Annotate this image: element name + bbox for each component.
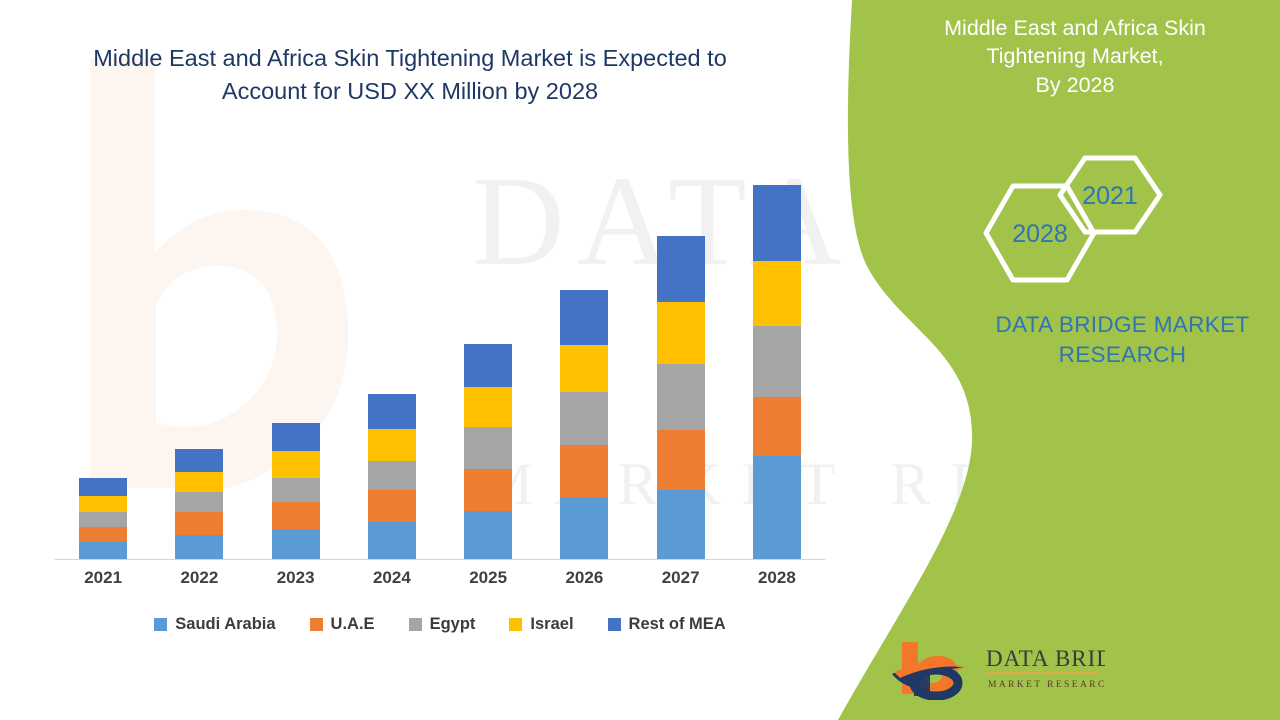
bar-2022 — [175, 449, 223, 559]
bar-segment-2022-israel — [175, 472, 223, 492]
legend-swatch-icon — [608, 618, 621, 631]
bar-2021 — [79, 478, 127, 559]
bar-segment-2021-israel — [79, 496, 127, 512]
bar-2027 — [657, 236, 705, 559]
infographic-canvas: DATA BRIDGE MARKET RESEARCH Middle East … — [0, 0, 1280, 720]
panel-heading-line-1: Middle East and Africa Skin — [905, 14, 1245, 42]
year-hexagon-group: 2021 2028 — [975, 148, 1175, 283]
bar-segment-2026-saudi-arabia — [560, 497, 608, 559]
x-axis-label-2022: 2022 — [164, 568, 234, 588]
panel-brand-line-2: RESEARCH — [960, 340, 1280, 370]
panel-brand-line-1: DATA BRIDGE MARKET — [960, 310, 1280, 340]
bar-segment-2026-israel — [560, 345, 608, 392]
bar-segment-2025-rest-of-mea — [464, 344, 512, 387]
bar-segment-2022-egypt — [175, 492, 223, 512]
bar-segment-2028-rest-of-mea — [753, 185, 801, 261]
x-axis-line — [55, 559, 825, 560]
legend-item-egypt[interactable]: Egypt — [409, 615, 476, 634]
bar-segment-2021-rest-of-mea — [79, 478, 127, 496]
bar-segment-2025-israel — [464, 387, 512, 427]
legend-swatch-icon — [154, 618, 167, 631]
panel-heading: Middle East and Africa Skin Tightening M… — [905, 14, 1245, 99]
hexagon-2021-label: 2021 — [1082, 182, 1138, 210]
bar-segment-2028-saudi-arabia — [753, 456, 801, 559]
bar-segment-2021-u-a-e — [79, 527, 127, 542]
bar-segment-2024-rest-of-mea — [368, 394, 416, 429]
x-axis-label-2027: 2027 — [646, 568, 716, 588]
bar-segment-2021-saudi-arabia — [79, 542, 127, 559]
bar-segment-2027-saudi-arabia — [657, 490, 705, 559]
bar-2025 — [464, 344, 512, 559]
stacked-bar-chart — [55, 160, 825, 560]
bar-segment-2027-israel — [657, 302, 705, 364]
x-axis-labels: 20212022202320242025202620272028 — [55, 568, 825, 596]
x-axis-label-2025: 2025 — [453, 568, 523, 588]
bar-segment-2025-saudi-arabia — [464, 511, 512, 559]
logo-wordmark-bottom: MARKET RESEARCH — [988, 680, 1105, 690]
bar-segment-2021-egypt — [79, 512, 127, 527]
bar-segment-2028-egypt — [753, 326, 801, 397]
bar-segment-2027-rest-of-mea — [657, 236, 705, 302]
bar-segment-2028-israel — [753, 261, 801, 326]
bar-segment-2023-u-a-e — [272, 502, 320, 529]
panel-heading-line-3: By 2028 — [905, 71, 1245, 99]
bar-2024 — [368, 394, 416, 559]
hexagon-2028-label: 2028 — [1012, 220, 1068, 248]
chart-legend: Saudi ArabiaU.A.EEgyptIsraelRest of MEA — [55, 615, 825, 634]
bar-segment-2025-u-a-e — [464, 469, 512, 511]
x-axis-label-2026: 2026 — [549, 568, 619, 588]
bar-segment-2024-israel — [368, 429, 416, 461]
x-axis-label-2023: 2023 — [261, 568, 331, 588]
bar-segment-2024-saudi-arabia — [368, 522, 416, 559]
legend-swatch-icon — [509, 618, 522, 631]
bar-2026 — [560, 290, 608, 559]
bar-segment-2022-saudi-arabia — [175, 535, 223, 559]
logo-wordmark-top: DATA BRIDGE — [986, 646, 1105, 671]
legend-item-rest-of-mea[interactable]: Rest of MEA — [608, 615, 726, 634]
bar-segment-2026-egypt — [560, 392, 608, 445]
bar-segment-2023-rest-of-mea — [272, 423, 320, 451]
bar-segment-2024-u-a-e — [368, 490, 416, 522]
panel-brand-text: DATA BRIDGE MARKET RESEARCH — [960, 310, 1280, 370]
bar-2023 — [272, 423, 320, 559]
legend-label: Rest of MEA — [629, 615, 726, 634]
x-axis-label-2028: 2028 — [742, 568, 812, 588]
bar-segment-2022-rest-of-mea — [175, 449, 223, 472]
x-axis-label-2024: 2024 — [357, 568, 427, 588]
bar-segment-2024-egypt — [368, 461, 416, 490]
bar-segment-2028-u-a-e — [753, 397, 801, 456]
page-title: Middle East and Africa Skin Tightening M… — [55, 42, 765, 109]
bar-segment-2027-egypt — [657, 364, 705, 430]
x-axis-label-2021: 2021 — [68, 568, 138, 588]
legend-item-israel[interactable]: Israel — [509, 615, 573, 634]
bar-2028 — [753, 185, 801, 559]
legend-swatch-icon — [409, 618, 422, 631]
legend-label: U.A.E — [331, 615, 375, 634]
bar-segment-2023-saudi-arabia — [272, 529, 320, 559]
legend-label: Israel — [530, 615, 573, 634]
legend-label: Saudi Arabia — [175, 615, 275, 634]
legend-swatch-icon — [310, 618, 323, 631]
bar-segment-2023-egypt — [272, 478, 320, 502]
bar-segment-2025-egypt — [464, 427, 512, 469]
legend-item-u-a-e[interactable]: U.A.E — [310, 615, 375, 634]
bar-segment-2022-u-a-e — [175, 512, 223, 535]
panel-heading-line-2: Tightening Market, — [905, 42, 1245, 70]
bar-segment-2026-u-a-e — [560, 445, 608, 497]
legend-label: Egypt — [430, 615, 476, 634]
bar-segment-2026-rest-of-mea — [560, 290, 608, 345]
bar-segment-2027-u-a-e — [657, 430, 705, 490]
databridge-logo: DATA BRIDGE MARKET RESEARCH — [890, 638, 1105, 700]
legend-item-saudi-arabia[interactable]: Saudi Arabia — [154, 615, 275, 634]
bar-segment-2023-israel — [272, 451, 320, 478]
